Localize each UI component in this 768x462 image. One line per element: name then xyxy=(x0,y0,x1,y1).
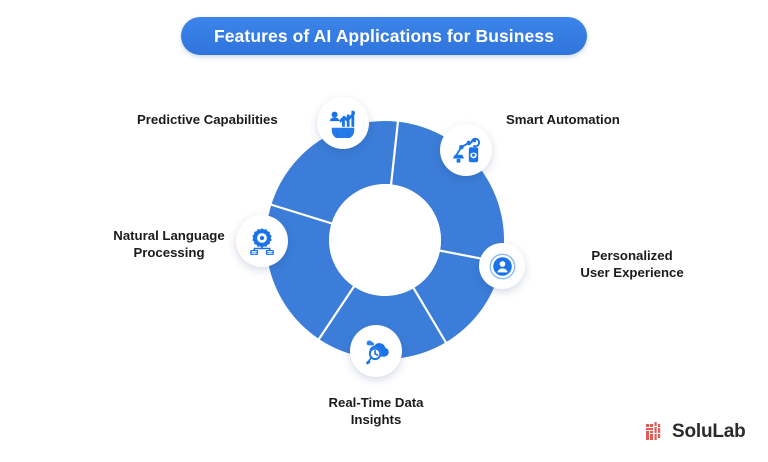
feature-label-nlp: Natural Language Processing xyxy=(93,227,245,261)
feature-icon-predictive[interactable] xyxy=(317,97,369,149)
robot-arm-wifi-icon xyxy=(451,135,481,165)
feature-label-predictive: Predictive Capabilities xyxy=(137,111,278,128)
brand-name: SoluLab xyxy=(672,421,746,443)
solulab-pixel-mark-icon xyxy=(646,422,666,442)
page-title-banner: Features of AI Applications for Business xyxy=(181,17,587,55)
page-title: Features of AI Applications for Business xyxy=(214,26,554,47)
feature-icon-realtime[interactable] xyxy=(350,325,402,377)
feature-label-realtime: Real-Time Data Insights xyxy=(300,394,452,428)
feature-label-personalized: Personalized User Experience xyxy=(552,247,712,281)
chart-growth-gear-icon xyxy=(328,108,358,138)
cloud-clock-search-icon xyxy=(361,336,391,366)
user-circle-icon xyxy=(489,253,516,280)
feature-icon-personalized[interactable] xyxy=(479,243,525,289)
gear-network-icon xyxy=(247,226,277,256)
brand-logo: SoluLab xyxy=(646,421,746,443)
donut-hub xyxy=(329,184,441,296)
feature-label-automation: Smart Automation xyxy=(506,111,620,128)
feature-icon-automation[interactable] xyxy=(440,124,492,176)
